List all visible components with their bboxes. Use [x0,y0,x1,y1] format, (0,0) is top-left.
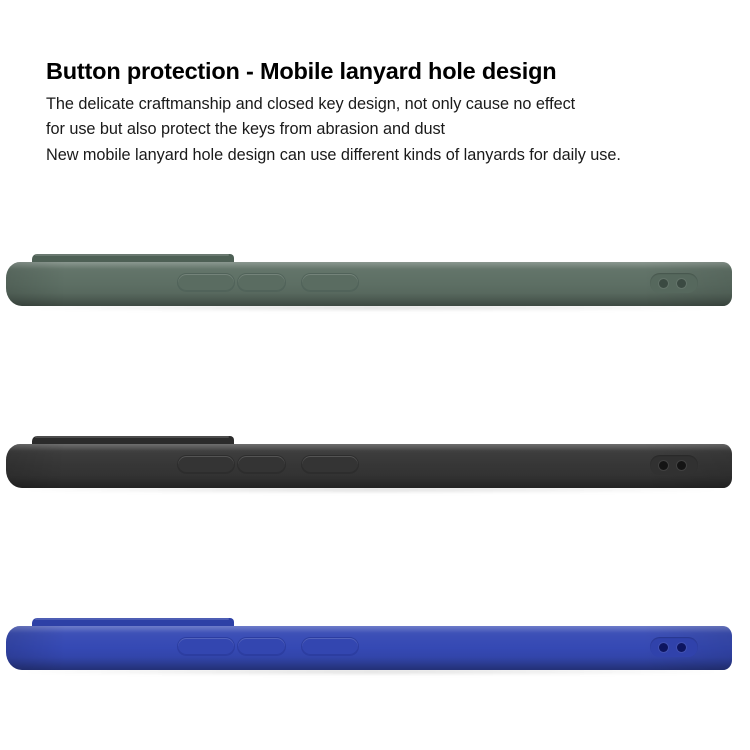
case-top-highlight [6,626,732,633]
phone-case-green [0,240,750,330]
lanyard-hole-plate-green [650,273,698,293]
phone-case-blue [0,604,750,694]
case-top-highlight [6,262,732,269]
case-body-green [6,262,732,306]
case-bottom-shade [6,293,732,306]
case-body-black [6,444,732,488]
description-line-1: The delicate craftmanship and closed key… [46,92,718,118]
key-cover-volume-up-green [238,274,285,291]
key-cover-volume-up-black [238,456,285,473]
key-cover-volume-down-blue [302,638,358,655]
case-flank-shading [6,626,732,670]
product-description-block: Button protection - Mobile lanyard hole … [46,58,718,169]
description-line-2: for use but also protect the keys from a… [46,117,718,143]
key-cover-volume-up-blue [238,638,285,655]
case-flank-shading [6,262,732,306]
case-left-endcap-shade [6,262,66,306]
page-title: Button protection - Mobile lanyard hole … [46,58,718,86]
case-bottom-shade [6,475,732,488]
key-cover-volume-down-green [302,274,358,291]
description-line-3: New mobile lanyard hole design can use d… [46,143,718,169]
case-left-endcap-shade [6,626,66,670]
lanyard-hole-2-green [677,279,686,288]
key-cover-mute-green [178,274,234,291]
lanyard-hole-2-blue [677,643,686,652]
case-body-blue [6,626,732,670]
case-flank-shading [6,444,732,488]
lanyard-hole-1-blue [659,643,668,652]
lanyard-hole-plate-blue [650,637,698,657]
phone-case-black [0,422,750,512]
key-cover-mute-blue [178,638,234,655]
lanyard-hole-1-green [659,279,668,288]
lanyard-hole-2-black [677,461,686,470]
key-cover-volume-down-black [302,456,358,473]
case-top-highlight [6,444,732,451]
lanyard-hole-plate-black [650,455,698,475]
key-cover-mute-black [178,456,234,473]
lanyard-hole-1-black [659,461,668,470]
case-left-endcap-shade [6,444,66,488]
case-bottom-shade [6,657,732,670]
